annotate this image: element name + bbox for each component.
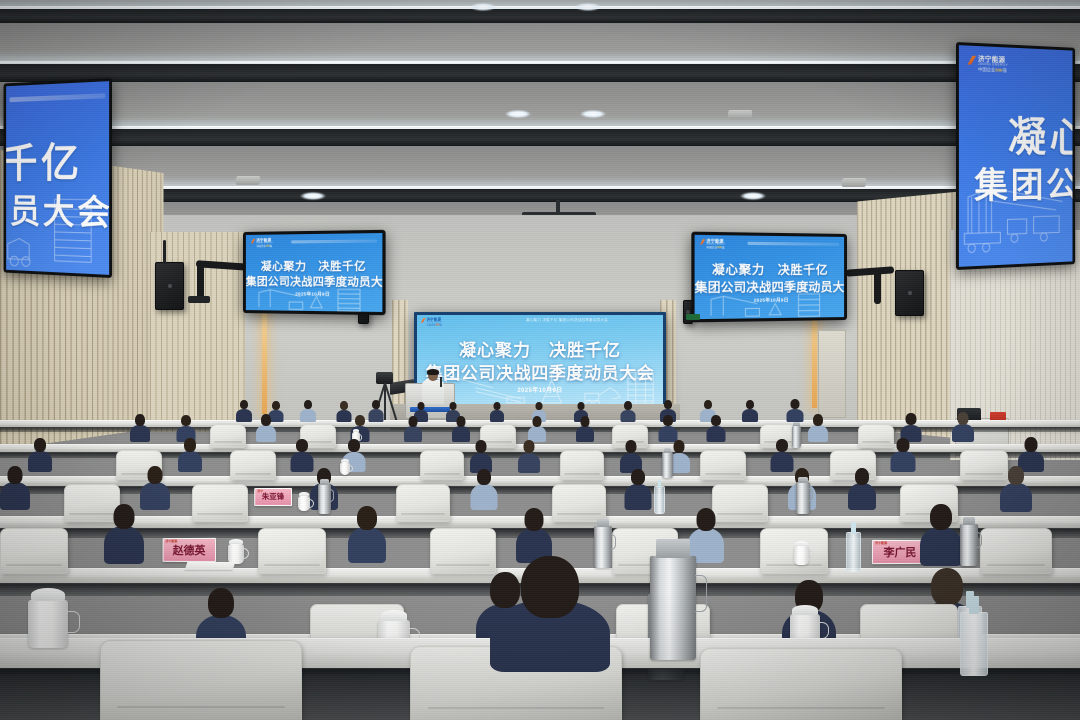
- ceiling-vent: [842, 178, 867, 187]
- person-head: [457, 416, 466, 427]
- thermos-handle: [695, 575, 707, 612]
- tv-right-artwork: [959, 164, 1073, 266]
- logo-mark-icon: [421, 318, 426, 323]
- wall-speaker-left: [155, 262, 184, 310]
- person-head: [905, 413, 916, 425]
- water-bottle: [960, 612, 988, 676]
- podium-microphone: [440, 377, 442, 387]
- monitor-left-artwork: [246, 285, 382, 312]
- thermos-handle: [330, 489, 334, 501]
- nameplate-logo: 济宁: [257, 490, 263, 493]
- stainless-steel-thermos: [650, 556, 696, 660]
- person-head: [581, 416, 590, 427]
- monitor-right-headline-1: 凝心聚力 决胜千亿: [695, 260, 845, 278]
- conference-hall-photo: cropped by frame edge, shows right porti…: [0, 0, 1080, 720]
- person-head: [409, 416, 418, 427]
- monitor-right-wall: 济宁能源 JINING ENERGY 中国企业500强 凝心聚力 决胜千亿 集团…: [691, 232, 847, 323]
- ceiling-vent: [236, 176, 261, 185]
- person-head: [711, 415, 721, 426]
- person-head: [663, 415, 673, 426]
- person-head: [958, 412, 969, 425]
- person-head: [418, 402, 425, 410]
- person-head: [304, 400, 312, 409]
- exit-sign: [686, 314, 700, 320]
- person-head: [357, 506, 377, 530]
- logo-sub-text: 中国企业500强: [427, 324, 443, 326]
- speaker-bracket: [163, 240, 166, 264]
- audience-person: [470, 469, 497, 508]
- monitor-screen-face: 济宁能源 JINING ENERGY 中国企业500强 凝心聚力 决胜千亿 集团…: [246, 233, 382, 312]
- person-head: [148, 466, 163, 484]
- person-head: [790, 399, 799, 409]
- person-head: [626, 440, 637, 453]
- person-head: [296, 439, 308, 452]
- ceiling-spotlight: [300, 192, 326, 200]
- audience-person: [848, 468, 876, 508]
- main-screen-headline-1: 凝心聚力 决胜千亿: [417, 336, 663, 361]
- ceiling-spotlight: [470, 3, 496, 11]
- tv-far-right: 济宁能源 JINING ENERGY 中国企业500强 凝心 集团公司: [956, 42, 1075, 270]
- person-head: [624, 401, 632, 410]
- person-head: [135, 414, 145, 426]
- brand-logo: 济宁能源 JINING ENERGY 中国企业500强: [421, 318, 443, 326]
- person-head: [272, 401, 280, 410]
- monitor-left-top-banner: [291, 239, 377, 243]
- tv-right-line-1: 凝心: [1008, 104, 1073, 164]
- audience-person: [490, 556, 610, 666]
- tv-screen-face: 济宁能源 JINING ENERGY 中国企业500强 凝心 集团公司: [959, 45, 1073, 267]
- ceiling-spotlight: [580, 110, 606, 118]
- tv-left-line-1: 千亿: [6, 129, 103, 190]
- person-head: [697, 508, 716, 531]
- audience-person: [0, 466, 30, 508]
- person-head: [181, 415, 191, 426]
- person-head: [8, 466, 23, 484]
- logo-sub-text: 中国企业500强: [978, 68, 1008, 74]
- monitor-left-headline-1: 凝心聚力 决胜千亿: [246, 257, 382, 274]
- white-lidded-porcelain-mug: [28, 600, 68, 648]
- person-head: [1008, 466, 1024, 485]
- ceiling-spotlight: [505, 110, 531, 118]
- audience-person: [624, 469, 651, 508]
- person-head: [477, 469, 491, 485]
- person-head: [674, 440, 685, 453]
- person-head: [536, 402, 543, 410]
- ceiling-spotlight: [575, 3, 601, 11]
- person-head: [776, 439, 788, 452]
- audience-person: [140, 466, 170, 508]
- ceiling-camera-pole: [556, 200, 560, 216]
- logo-mark-icon: [251, 239, 256, 244]
- monitor-left-mount-plate: [188, 296, 210, 303]
- monitor-screen-face: 济宁能源 JINING ENERGY 中国企业500强 凝心聚力 决胜千亿 集团…: [695, 235, 845, 319]
- chair: [700, 648, 902, 720]
- person-head: [704, 400, 712, 409]
- person-head: [524, 440, 535, 453]
- nameplate-text: 朱亚锋: [262, 493, 284, 501]
- person-head: [494, 402, 501, 410]
- person-head: [208, 588, 234, 618]
- person-head: [930, 504, 952, 530]
- tv-left-artwork: [6, 185, 109, 275]
- person-head: [813, 414, 823, 426]
- monitor-right-mount-pole: [874, 270, 881, 304]
- logo-mark-icon: [700, 239, 705, 244]
- person-head: [240, 400, 248, 409]
- person-head: [340, 401, 348, 410]
- person-head: [578, 402, 585, 410]
- monitor-left-wall: 济宁能源 JINING ENERGY 中国企业500强 凝心聚力 决胜千亿 集团…: [243, 230, 386, 315]
- monitor-right-artwork: [695, 291, 845, 319]
- monitor-right-top-banner: [748, 242, 840, 246]
- brand-logo: 济宁能源 JINING ENERGY 中国企业500强: [251, 239, 273, 248]
- person-head: [1025, 437, 1038, 452]
- person-head: [476, 440, 487, 453]
- person-head: [355, 415, 365, 426]
- wall-speaker-right: [895, 270, 924, 316]
- person-head: [931, 568, 963, 606]
- person-head: [372, 400, 380, 409]
- person-head: [533, 416, 542, 427]
- person-head: [114, 504, 135, 529]
- person-head: [184, 438, 196, 452]
- chair: [100, 640, 302, 720]
- presenter-hair: [427, 369, 439, 375]
- person-head: [521, 556, 579, 618]
- ceiling-spotlight: [740, 192, 766, 200]
- person-head: [450, 402, 457, 410]
- person-head: [261, 414, 271, 426]
- person-head: [896, 438, 909, 452]
- person-head: [525, 508, 544, 531]
- brand-logo: 济宁能源 JINING ENERGY 中国企业500强: [700, 239, 725, 249]
- brand-logo: 济宁能源 JINING ENERGY 中国企业500强: [968, 56, 1009, 74]
- nameplate-logo: 济宁能源: [875, 542, 887, 545]
- tv-screen-face: cropped by frame edge, shows right porti…: [6, 81, 109, 275]
- nameplate-logo: 济宁能源: [165, 540, 177, 543]
- person-head: [746, 400, 754, 409]
- tv-far-left: cropped by frame edge, shows right porti…: [4, 78, 112, 278]
- logo-sub-text: 中国企业500强: [256, 245, 272, 248]
- person-head: [631, 469, 645, 485]
- person-head: [348, 439, 360, 452]
- main-screen-top-banner: 凝心聚力 决胜千亿 集团公司决战四季度动员大会: [471, 318, 663, 323]
- person-head: [664, 400, 672, 409]
- person-head: [855, 468, 869, 485]
- ceiling-vent: [728, 110, 753, 119]
- logo-mark-icon: [968, 56, 977, 65]
- logo-sub-text: 中国企业500强: [706, 246, 725, 249]
- person-head: [34, 438, 46, 452]
